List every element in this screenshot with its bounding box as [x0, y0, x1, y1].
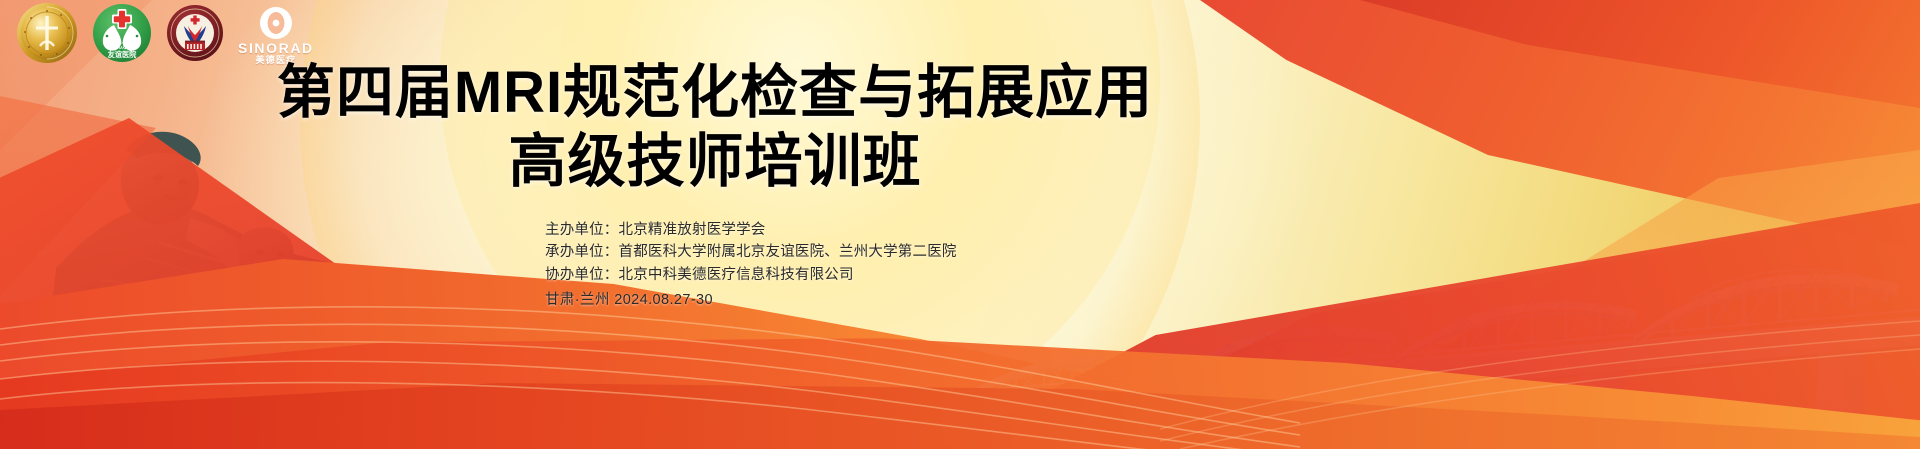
sinorad-logo[interactable]: SINORAD 美德医疗: [238, 6, 314, 65]
info-organizer: 主办单位：北京精准放射医学学会: [545, 219, 957, 241]
title-line-1: 第四届MRI规范化检查与拓展应用: [0, 62, 1430, 125]
title-line-2: 高级技师培训班: [0, 131, 1430, 194]
logo-text-line2: 友谊医院: [107, 50, 138, 59]
sinorad-mark-icon: [259, 6, 293, 40]
zhongshan-iron-bridge: [930, 149, 1920, 449]
gold-seal-logo[interactable]: [16, 2, 78, 69]
beijing-friendship-hospital-logo[interactable]: 北京 友谊医院: [92, 3, 152, 68]
sinorad-wordmark: SINORAD: [238, 41, 314, 55]
info-coorganizer: 协办单位：北京中科美德医疗信息科技有限公司: [545, 264, 957, 286]
partner-logo-strip: 北京 友谊医院: [16, 4, 314, 66]
event-info-block: 主办单位：北京精准放射医学学会 承办单位：首都医科大学附属北京友谊医院、兰州大学…: [545, 219, 957, 312]
logo-text-line1: 北京: [115, 41, 129, 50]
conference-banner: 北京 友谊医院: [0, 0, 1920, 449]
red-accent-top-right-inner: [1360, 0, 1920, 150]
maroon-hospital-logo[interactable]: [166, 4, 224, 67]
info-host: 承办单位：首都医科大学附属北京友谊医院、兰州大学第二医院: [545, 241, 957, 263]
info-venue-date: 甘肃·兰州 2024.08.27-30: [545, 289, 957, 311]
banner-title-block: 第四届MRI规范化检查与拓展应用 高级技师培训班: [0, 62, 1430, 193]
